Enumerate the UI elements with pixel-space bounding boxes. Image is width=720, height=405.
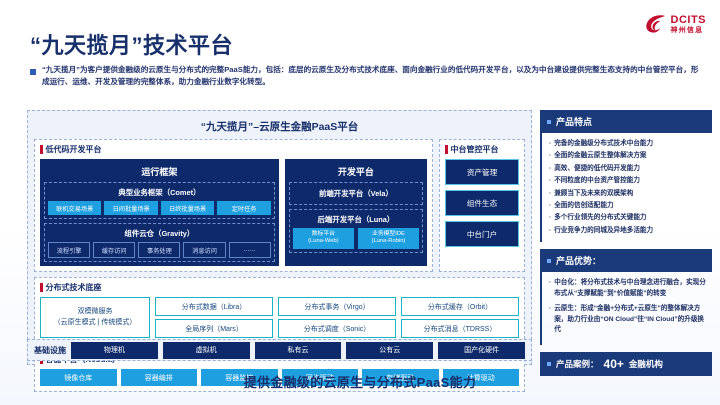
feature-text: 全面的金融云原生整体解决方案: [554, 151, 646, 161]
feature-item: ·全面的金融云原生整体解决方案: [549, 151, 706, 161]
base-column: 分布式数据（Libra） 全局序列（Mars）: [155, 297, 273, 338]
runtime-framework-block: 运行框架 典型业务框架（Comet） 联机交易场景 日间批量场景 日终批量场景 …: [40, 159, 279, 266]
infrastructure-item[interactable]: 物理机: [71, 342, 158, 359]
product-advantages-body: ·中台化：将分布式技术与中台理念进行融合，实现分布式从“支撑赋能”到“价值赋能”…: [540, 272, 712, 345]
infrastructure-item[interactable]: 虚拟机: [163, 342, 250, 359]
feature-item: ·兼顾当下及未来的双模架构: [549, 189, 706, 199]
intro-text: “九天揽月”为客户提供金融级的云原生与分布式的完整PaaS能力，包括：底层的云原…: [42, 64, 702, 88]
component-cloud-title: 组件云仓（Gravity）: [48, 227, 271, 242]
right-column: 产品特点 ·完备的金融级分布式技术中台能力 ·全面的金融云原生整体解决方案 ·高…: [540, 110, 712, 376]
lowcode-section-label: 低代码开发平台: [46, 144, 102, 155]
slide-root: DCITS 神州信息 “九天揽月”技术平台 “九天揽月”为客户提供金融级的云原生…: [0, 0, 720, 405]
base-cell[interactable]: 分布式事务（Virgo）: [278, 297, 396, 316]
base-cell[interactable]: 分布式数据（Libra）: [155, 297, 273, 316]
base-cell[interactable]: 分布式调度（Sonic）: [278, 319, 396, 338]
feature-text: 全面的信创适配能力: [554, 201, 613, 211]
business-frame-box: 典型业务框架（Comet） 联机交易场景 日间批量场景 日终批量场景 定时任务: [44, 182, 275, 219]
component-tag[interactable]: 缓存访问: [93, 242, 135, 258]
product-features-head: 产品特点: [540, 110, 712, 133]
infrastructure-label: 基础设施: [34, 345, 66, 356]
mgmt-platform-section: 中台管控平台 资产管理 组件生态 中台门户: [439, 139, 525, 272]
advantage-item: ·中台化：将分布式技术与中台理念进行融合，实现分布式从“支撑赋能”到“价值赋能”…: [549, 278, 706, 299]
runtime-tag[interactable]: 联机交易场景: [48, 201, 101, 215]
section-accent-bar-icon: [445, 145, 448, 154]
intro-paragraph: “九天揽月”为客户提供金融级的云原生与分布式的完整PaaS能力，包括：底层的云原…: [30, 64, 702, 88]
backend-tag[interactable]: 数标平台 (Luna-Web): [293, 228, 354, 249]
section-accent-bar-icon: [40, 283, 43, 292]
brand-logo: DCITS 神州信息: [645, 14, 707, 34]
feature-item: ·多个行业领先的分布式关键能力: [549, 213, 706, 223]
advantage-text: 中台化：将分布式技术与中台理念进行融合，实现分布式从“支撑赋能”到“价值赋能”的…: [554, 278, 706, 299]
product-case-label: 产品案例：: [556, 358, 599, 370]
feature-item: ·不同粒度的中台资产管控能力: [549, 176, 706, 186]
component-tag[interactable]: 事务处理: [138, 242, 180, 258]
product-case-number: 40+: [604, 357, 624, 371]
base-section-label: 分布式技术底座: [46, 282, 102, 293]
product-features-card: 产品特点 ·完备的金融级分布式技术中台能力 ·全面的金融云原生整体解决方案 ·高…: [540, 110, 712, 242]
feature-text: 行业竞争力的同城及异地多活能力: [554, 226, 653, 236]
runtime-tag[interactable]: 定时任务: [217, 201, 270, 215]
product-features-body: ·完备的金融级分布式技术中台能力 ·全面的金融云原生整体解决方案 ·高效、便捷的…: [540, 133, 712, 242]
dot-icon: ·: [549, 278, 551, 299]
development-platform-block: 开发平台 前端开发平台（Vela） 后端开发平台（Luna） 数标平台 (Lun…: [285, 159, 427, 266]
feature-text: 高效、便捷的低代码开发能力: [554, 164, 640, 174]
infrastructure-section: 基础设施 物理机 虚拟机 私有云 公有云 国产化硬件: [27, 339, 532, 361]
runtime-tag[interactable]: 日终批量场景: [161, 201, 214, 215]
frontend-platform-label: 前端开发平台（Vela）: [293, 186, 419, 201]
dot-icon: ·: [549, 164, 551, 174]
feature-item: ·全面的信创适配能力: [549, 201, 706, 211]
feature-text: 多个行业领先的分布式关键能力: [554, 213, 646, 223]
component-tag[interactable]: ……: [229, 242, 271, 258]
dot-icon: ·: [549, 151, 551, 161]
dot-icon: ·: [549, 201, 551, 211]
bullet-square-icon: [547, 362, 551, 366]
product-advantages-card: 产品优势： ·中台化：将分布式技术与中台理念进行融合，实现分布式从“支撑赋能”到…: [540, 249, 712, 345]
logo-en-text: DCITS: [671, 15, 707, 26]
dot-icon: ·: [549, 304, 551, 336]
product-case-banner: 产品案例： 40+ 金融机构: [540, 352, 712, 376]
mgmt-section-head: 中台管控平台: [445, 144, 519, 155]
logo-cn-text: 神州信息: [671, 27, 707, 34]
bullet-square-icon: [547, 259, 551, 263]
bullet-square-icon: [30, 69, 36, 75]
base-column: 分布式事务（Virgo） 分布式调度（Sonic）: [278, 297, 396, 338]
mgmt-section-label: 中台管控平台: [451, 144, 499, 155]
product-advantages-head: 产品优势：: [540, 249, 712, 272]
feature-text: 不同粒度的中台资产管控能力: [554, 176, 640, 186]
frontend-platform-box: 前端开发平台（Vela）: [289, 182, 423, 205]
infrastructure-item[interactable]: 公有云: [346, 342, 433, 359]
business-frame-title: 典型业务框架（Comet）: [48, 186, 271, 201]
advantage-item: ·云原生：形成“金融+分布式+云原生”的整体解决方案，助力行业由“ON Clou…: [549, 304, 706, 336]
base-cell[interactable]: 分布式消息（TDRSS）: [401, 319, 519, 338]
infrastructure-item[interactable]: 国产化硬件: [438, 342, 525, 359]
dot-icon: ·: [549, 176, 551, 186]
dual-mode-line1: 双模微服务: [44, 307, 146, 318]
backend-tag[interactable]: 业务模型IDE (Luna-Robin): [358, 228, 419, 249]
distributed-base-section: 分布式技术底座 双模微服务 （云原生模式 | 传统模式） 分布式数据（Libra…: [34, 277, 525, 344]
bullet-square-icon: [547, 120, 551, 124]
runtime-title: 运行框架: [44, 163, 275, 182]
feature-item: ·行业竞争力的同城及异地多活能力: [549, 226, 706, 236]
backend-tag-line1: 数标平台: [294, 231, 353, 239]
page-title: “九天揽月”技术平台: [30, 28, 233, 60]
product-features-title: 产品特点: [556, 115, 592, 128]
dot-icon: ·: [549, 226, 551, 236]
dot-icon: ·: [549, 139, 551, 149]
base-section-head: 分布式技术底座: [40, 282, 519, 293]
section-accent-bar-icon: [40, 145, 43, 154]
feature-item: ·高效、便捷的低代码开发能力: [549, 164, 706, 174]
devplatform-title: 开发平台: [289, 163, 423, 182]
feature-text: 兼顾当下及未来的双模架构: [554, 189, 633, 199]
diagram-title: “九天揽月”–云原生金融PaaS平台: [34, 116, 525, 139]
backend-tag-line2: (Luna-Robin): [359, 238, 418, 246]
dual-mode-microservice-cell[interactable]: 双模微服务 （云原生模式 | 传统模式）: [40, 297, 150, 338]
diagram-top-row: 低代码开发平台 运行框架 典型业务框架（Comet） 联机交易场景 日间批量场景…: [34, 139, 525, 272]
backend-tag-line2: (Luna-Web): [294, 238, 353, 246]
base-column: 分布式缓存（Orbit） 分布式消息（TDRSS）: [401, 297, 519, 338]
lowcode-section-head: 低代码开发平台: [40, 144, 427, 155]
infrastructure-item[interactable]: 私有云: [255, 342, 342, 359]
architecture-diagram: “九天揽月”–云原生金融PaaS平台 低代码开发平台 运行框架 典型业务框架（C…: [27, 110, 532, 365]
runtime-tag[interactable]: 日间批量场景: [104, 201, 157, 215]
mgmt-item[interactable]: 资产管理: [445, 159, 519, 185]
dot-icon: ·: [549, 189, 551, 199]
component-tag[interactable]: 消息访问: [183, 242, 225, 258]
backend-platform-box: 后端开发平台（Luna） 数标平台 (Luna-Web) 业务模型IDE (Lu…: [289, 209, 423, 253]
backend-platform-title: 后端开发平台（Luna）: [293, 213, 419, 228]
dual-mode-line2: （云原生模式 | 传统模式）: [44, 318, 146, 329]
product-advantages-title: 产品优势：: [556, 254, 601, 267]
feature-item: ·完备的金融级分布式技术中台能力: [549, 139, 706, 149]
mgmt-item[interactable]: 组件生态: [445, 190, 519, 216]
product-case-suffix: 金融机构: [629, 358, 663, 370]
component-cloud-box: 组件云仓（Gravity） 流程引擎 缓存访问 事务处理 消息访问 ……: [44, 223, 275, 262]
mgmt-item[interactable]: 中台门户: [445, 221, 519, 247]
backend-tag-line1: 业务模型IDE: [359, 231, 418, 239]
base-cell[interactable]: 全局序列（Mars）: [155, 319, 273, 338]
dcits-swoosh-icon: [645, 14, 667, 34]
component-tag[interactable]: 流程引擎: [48, 242, 90, 258]
lowcode-platform-section: 低代码开发平台 运行框架 典型业务框架（Comet） 联机交易场景 日间批量场景…: [34, 139, 433, 272]
feature-text: 完备的金融级分布式技术中台能力: [554, 139, 653, 149]
advantage-text: 云原生：形成“金融+分布式+云原生”的整体解决方案，助力行业由“ON Cloud…: [554, 304, 706, 336]
dot-icon: ·: [549, 213, 551, 223]
base-cell[interactable]: 分布式缓存（Orbit）: [401, 297, 519, 316]
